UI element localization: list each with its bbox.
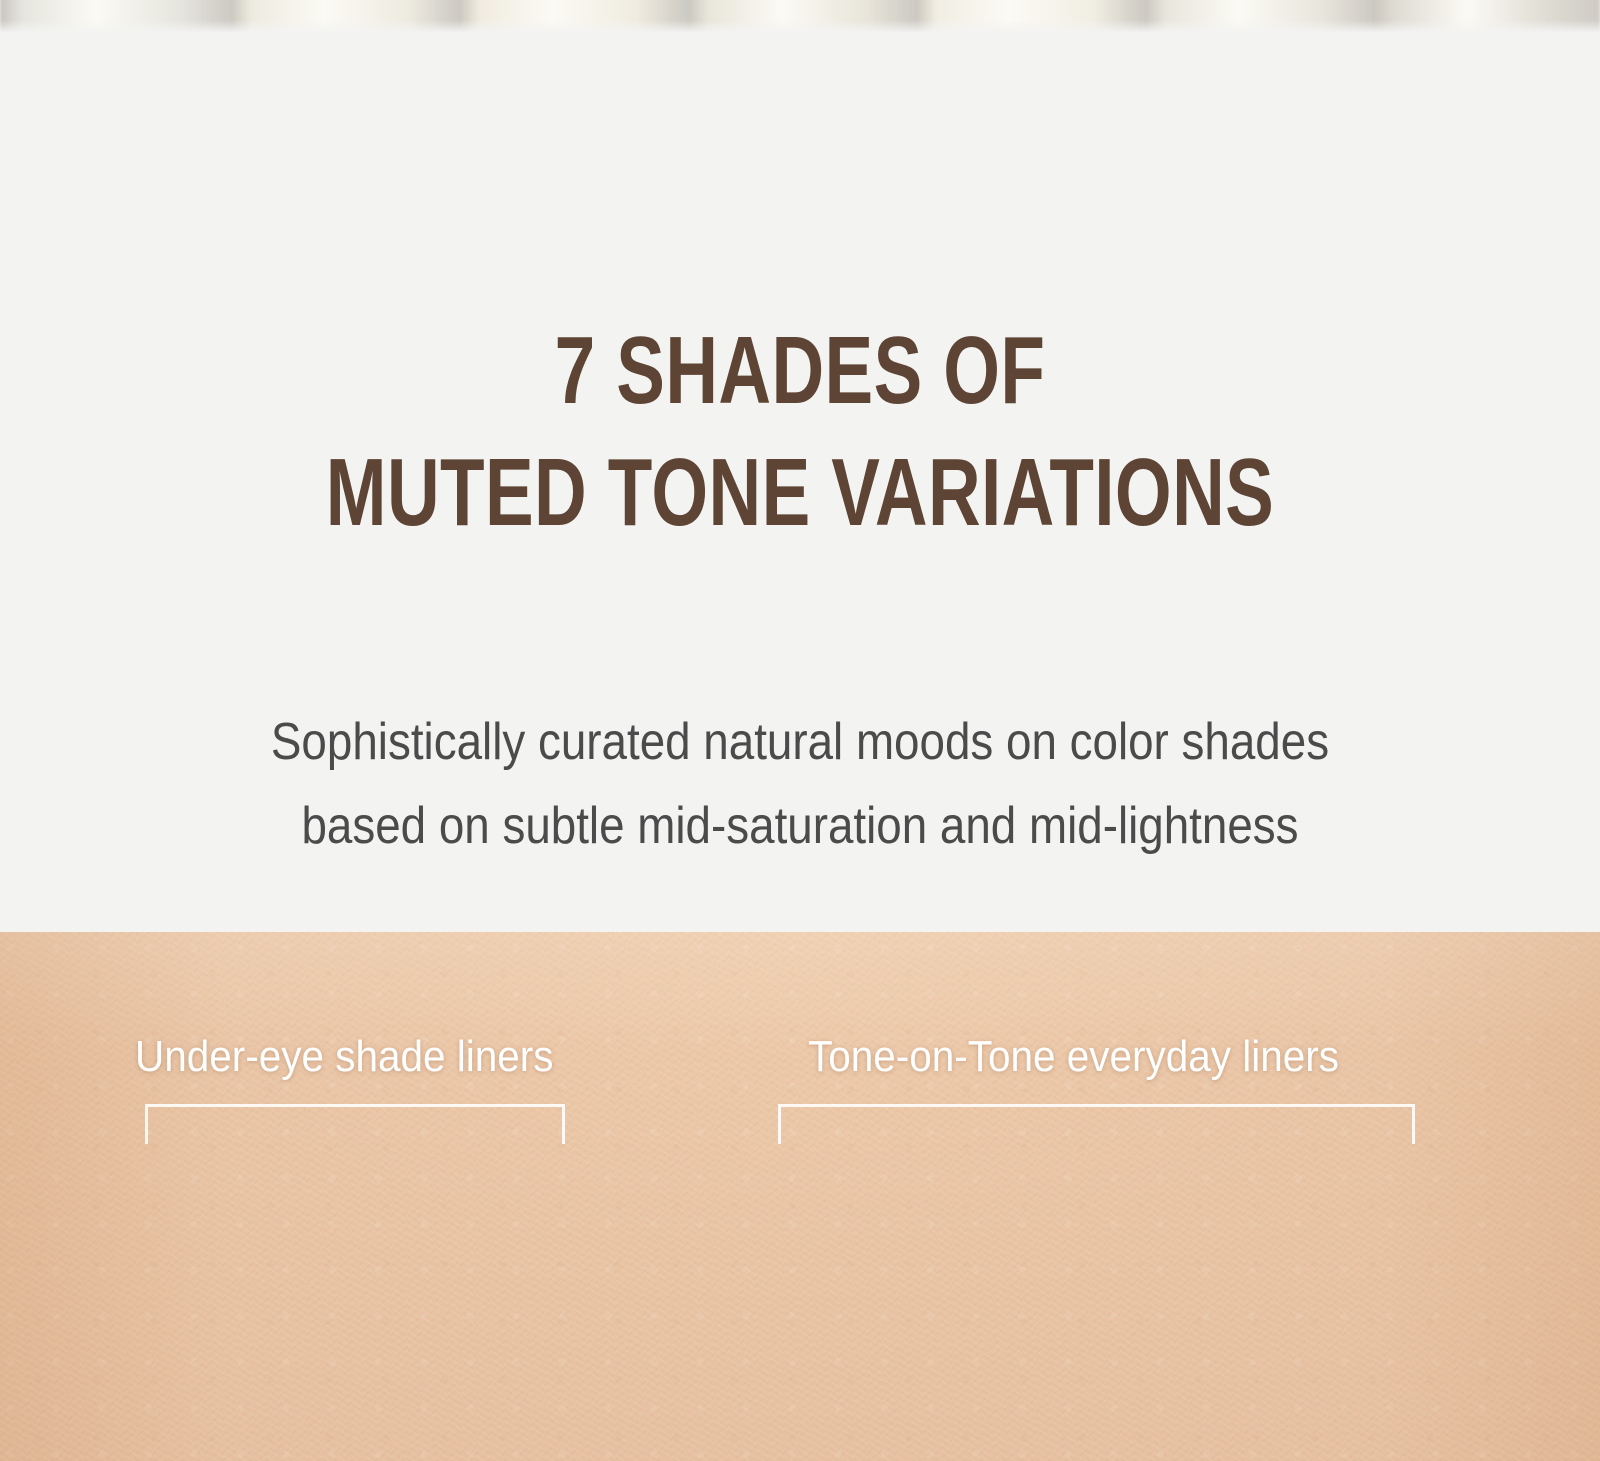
group-label-tone-on-tone: Tone-on-Tone everyday liners: [808, 1032, 1385, 1082]
product-tube: [457, 0, 686, 34]
product-tube: [1371, 0, 1600, 34]
product-detail-page: 7 SHADES OF MUTED TONE VARIATIONS Sophis…: [0, 0, 1600, 1461]
headline-line-1: 7 SHADES OF: [192, 317, 1408, 425]
headline-line-2: MUTED TONE VARIATIONS: [192, 439, 1408, 547]
blurred-product-tubes-image: [0, 0, 1600, 34]
product-tube: [914, 0, 1143, 34]
group-label-under-eye: Under-eye shade liners: [135, 1032, 590, 1082]
subtitle-line-2: based on subtle mid-saturation and mid-l…: [96, 784, 1504, 868]
page-subtitle: Sophistically curated natural moods on c…: [0, 700, 1600, 868]
product-tube: [1143, 0, 1372, 34]
group-label-under-eye-text: Under-eye shade liners: [135, 1032, 554, 1082]
product-tube: [686, 0, 915, 34]
group-bracket-tone-on-tone: [778, 1104, 1415, 1144]
subtitle-line-1: Sophistically curated natural moods on c…: [96, 700, 1504, 784]
swatch-photo-section: [0, 932, 1600, 1461]
group-bracket-under-eye: [145, 1104, 565, 1144]
product-tube: [229, 0, 458, 34]
hero-section: 7 SHADES OF MUTED TONE VARIATIONS Sophis…: [0, 0, 1600, 932]
page-title: 7 SHADES OF MUTED TONE VARIATIONS: [0, 317, 1600, 546]
product-tube: [0, 0, 229, 34]
group-label-tone-on-tone-text: Tone-on-Tone everyday liners: [808, 1032, 1339, 1082]
skin-texture-overlay: [0, 932, 1600, 1461]
